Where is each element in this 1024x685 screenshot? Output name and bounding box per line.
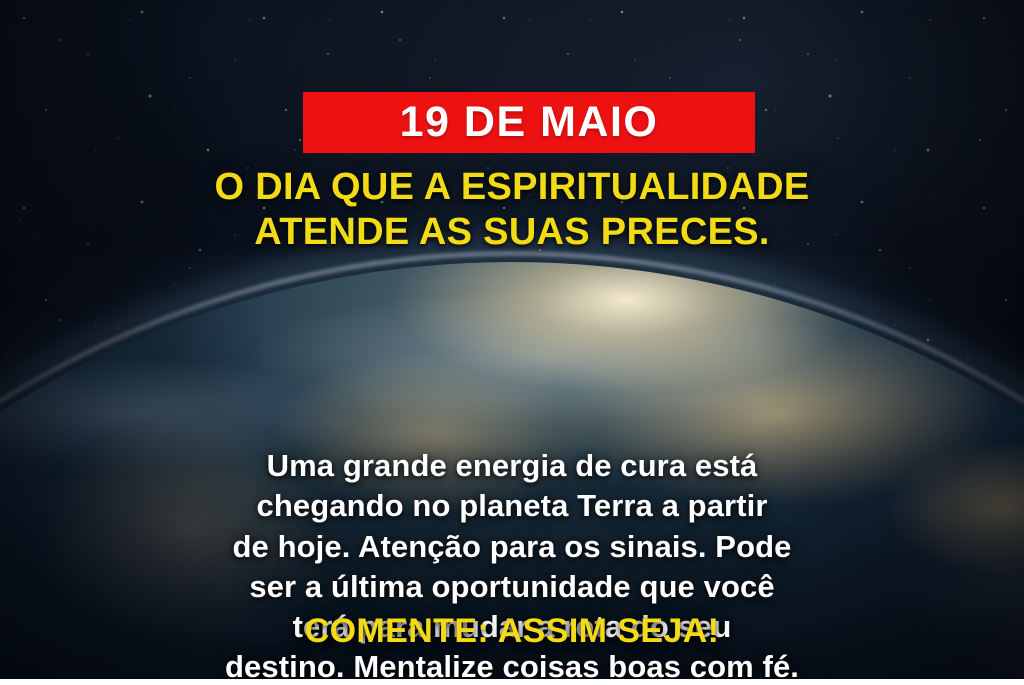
poster-canvas: 19 DE MAIO O DIA QUE A ESPIRITUALIDADE A… [0, 0, 1024, 685]
body-line-3: de hoje. Atenção para os sinais. Pode [0, 527, 1024, 567]
headline-line-1: O DIA QUE A ESPIRITUALIDADE [0, 165, 1024, 210]
body-line-4: ser a última oportunidade que você [0, 567, 1024, 607]
body-line-2: chegando no planeta Terra a partir [0, 486, 1024, 526]
date-banner-label: 19 DE MAIO [400, 101, 659, 144]
headline-line-2: ATENDE AS SUAS PRECES. [0, 210, 1024, 255]
bottom-white-strip [0, 679, 1024, 685]
call-to-action-text: COMENTE: ASSIM SEJA! [0, 614, 1024, 648]
headline: O DIA QUE A ESPIRITUALIDADE ATENDE AS SU… [0, 165, 1024, 255]
body-line-1: Uma grande energia de cura está [0, 446, 1024, 486]
date-banner: 19 DE MAIO [303, 92, 755, 153]
poster-content: 19 DE MAIO O DIA QUE A ESPIRITUALIDADE A… [0, 0, 1024, 685]
